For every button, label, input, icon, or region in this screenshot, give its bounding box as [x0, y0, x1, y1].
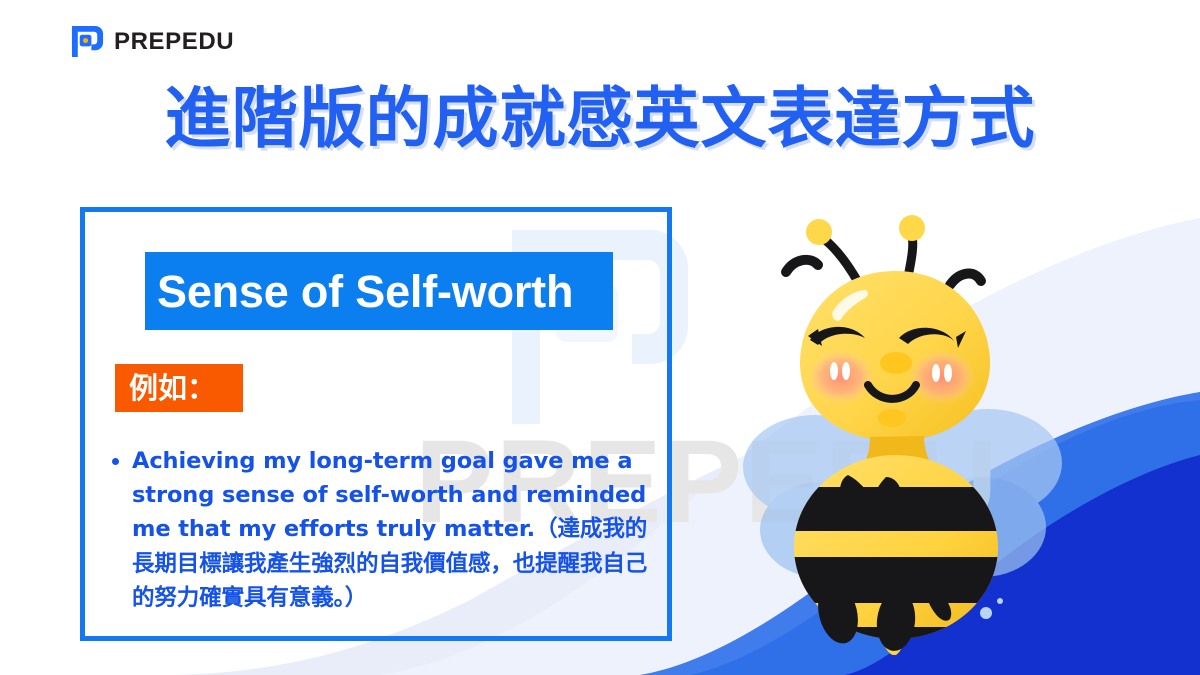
bee-chin [878, 409, 906, 427]
heading-banner: Sense of Self-worth [145, 252, 613, 330]
example-label-text: 例如： [129, 374, 216, 403]
prepedu-bracket-mark-icon [70, 24, 105, 59]
example-label-badge: 例如： [115, 364, 243, 412]
bee-antenna-ball-left [806, 219, 832, 245]
bee-nose [880, 352, 912, 374]
bee-antenna-ball-right [899, 215, 925, 241]
brand-logo-text: PREPEDU [114, 30, 234, 54]
bee-blush-right [909, 350, 975, 404]
list-item: Achieving my long-term goal gave me a st… [112, 444, 657, 615]
bee-sparkle-dots-icon [980, 598, 1003, 619]
list-item-text: Achieving my long-term goal gave me a st… [132, 444, 657, 615]
page-title: 進階版的成就感英文表達方式 [0, 82, 1200, 156]
bullet-dot-icon [112, 458, 119, 465]
heading-banner-text: Sense of Self-worth [157, 269, 573, 314]
bee-blush-left [808, 350, 874, 404]
bee-mascot [700, 205, 1090, 655]
brand-logo: PREPEDU [70, 24, 234, 59]
slide-canvas: PREPEDU PREPEDU 進階版的成就感英文表達方式 Sense of S… [0, 0, 1200, 675]
